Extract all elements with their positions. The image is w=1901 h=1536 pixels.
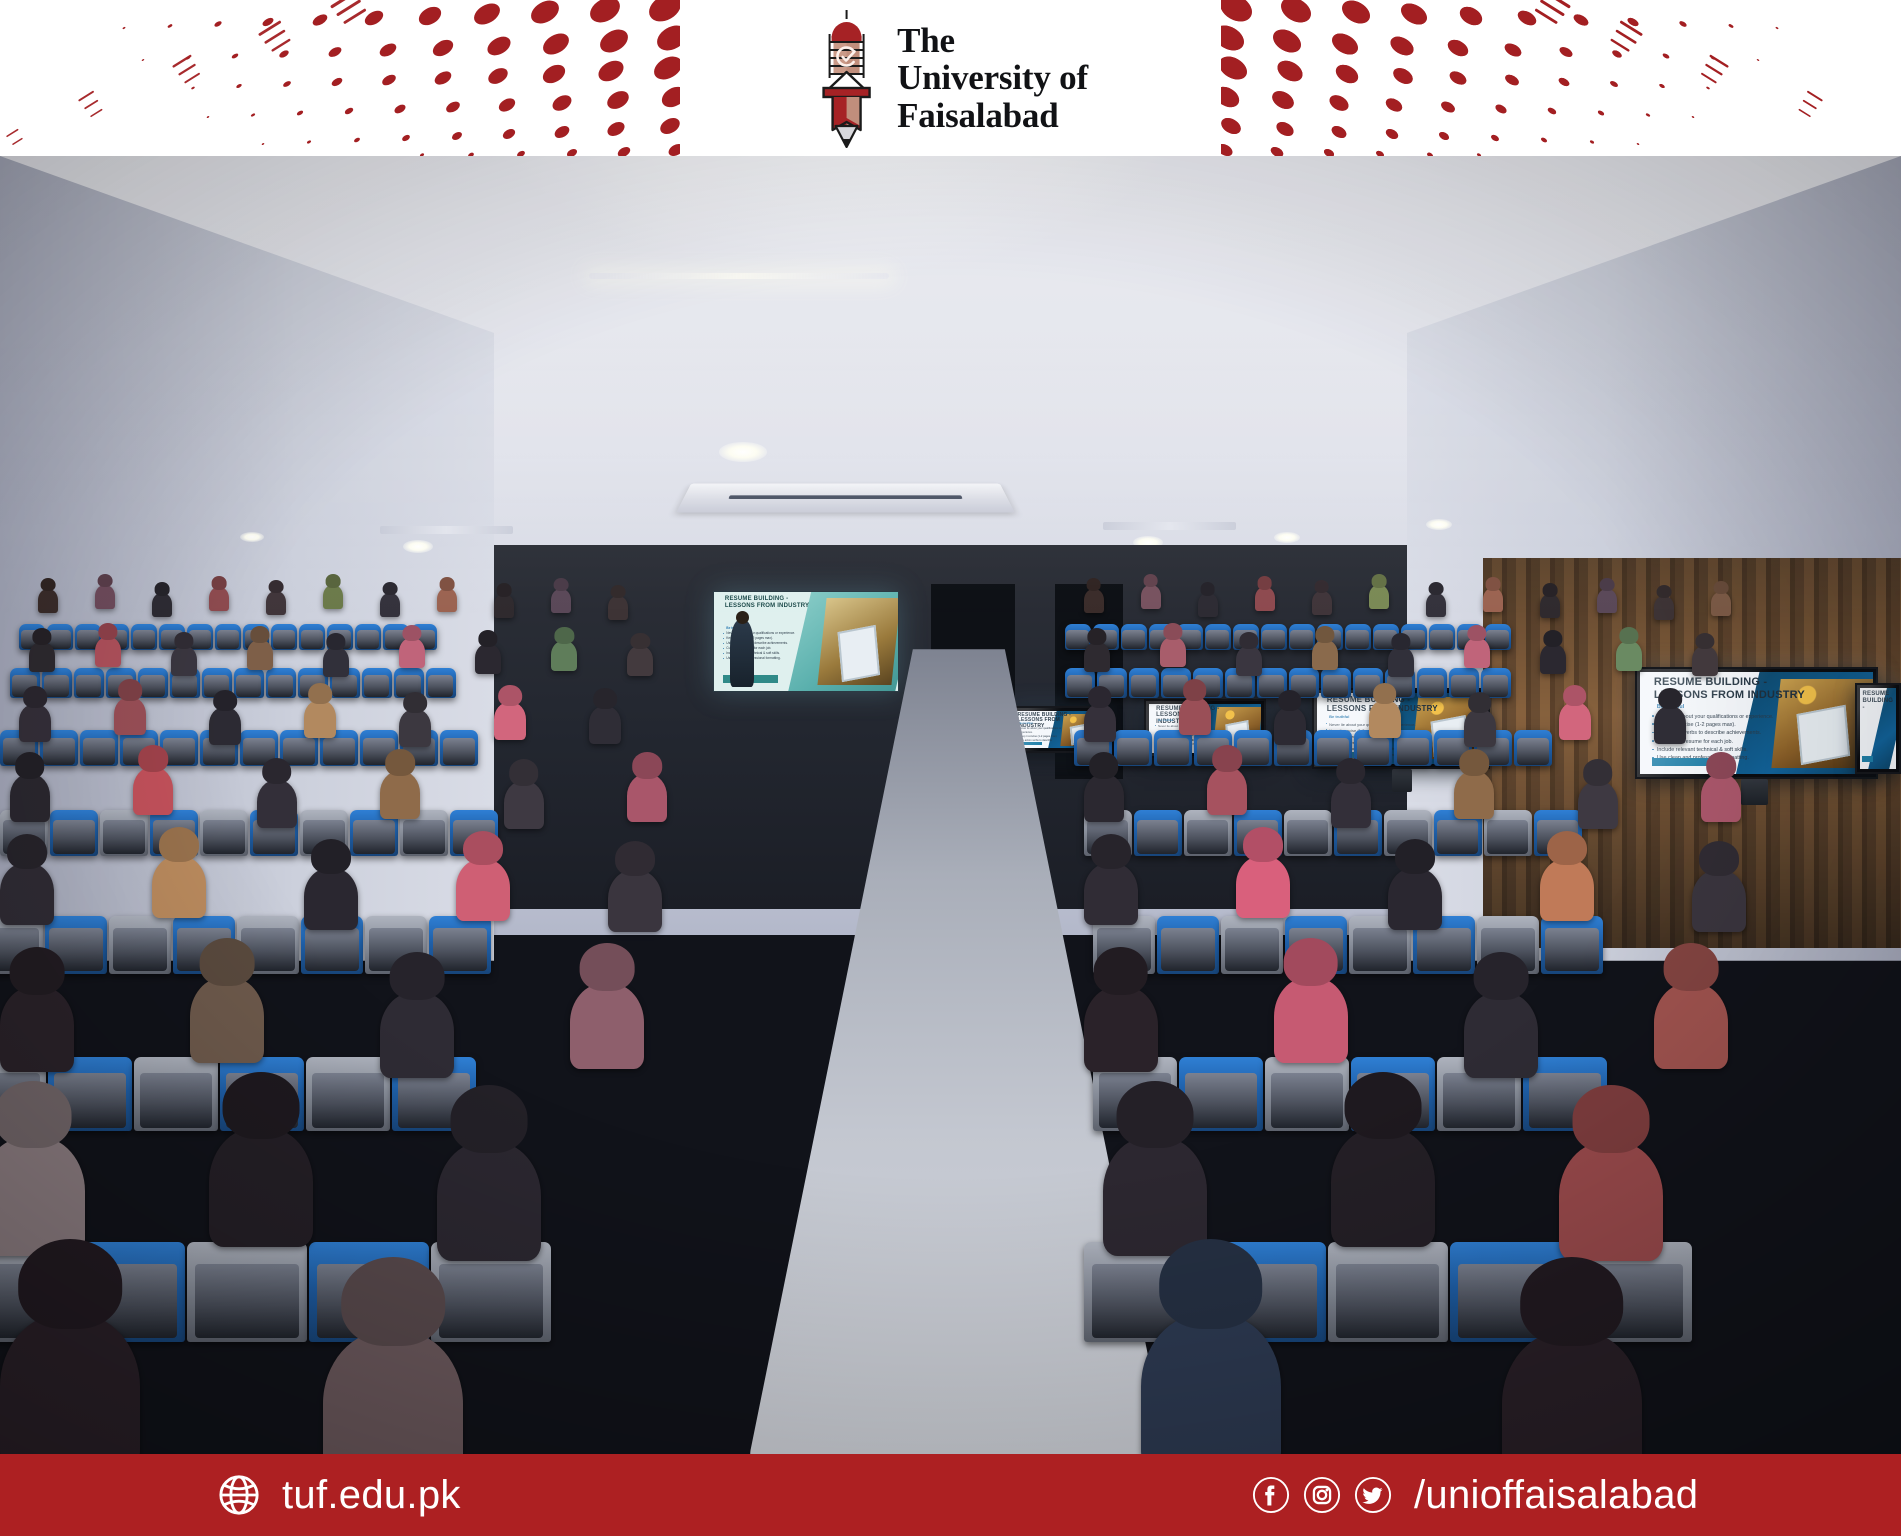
- attendee: [38, 589, 58, 613]
- ceiling-slot: [1103, 522, 1236, 530]
- attendee: [257, 780, 297, 828]
- ceiling-ac-vent: [677, 484, 1016, 513]
- attendee: [1597, 589, 1617, 613]
- attendee: [1084, 863, 1138, 925]
- attendee: [399, 638, 425, 668]
- attendee: [209, 707, 241, 745]
- social-handle[interactable]: /unioffaisalabad: [1414, 1473, 1698, 1518]
- logo-line-2: University of: [897, 59, 1088, 96]
- attendee: [1426, 593, 1446, 617]
- attendee: [1236, 646, 1262, 676]
- attendee: [1331, 780, 1371, 828]
- attendee: [1207, 767, 1247, 815]
- website-label[interactable]: tuf.edu.pk: [282, 1473, 461, 1518]
- attendee: [1198, 593, 1218, 617]
- attendee: [1141, 1313, 1281, 1454]
- attendee: [19, 704, 51, 742]
- attendee: [266, 591, 286, 615]
- logo-line-1: The: [897, 22, 1088, 59]
- attendee: [627, 774, 667, 822]
- header-bar: The University of Faisalabad: [0, 0, 1901, 156]
- attendee: [456, 859, 510, 921]
- attendee: [1274, 977, 1348, 1063]
- attendee: [1331, 1127, 1435, 1247]
- attendee: [437, 1141, 541, 1261]
- attendee: [1388, 647, 1414, 677]
- attendee: [0, 863, 54, 925]
- attendee: [1692, 870, 1746, 932]
- website-group[interactable]: tuf.edu.pk: [218, 1473, 461, 1518]
- attendee: [323, 1330, 463, 1454]
- ceiling-strip-light: [589, 273, 889, 279]
- logo-wordmark: The University of Faisalabad: [897, 22, 1088, 133]
- attendee: [1578, 781, 1618, 829]
- attendee: [10, 774, 50, 822]
- attendee: [1312, 591, 1332, 615]
- attendee: [1084, 642, 1110, 672]
- presenter-speaker: [730, 620, 754, 687]
- attendee: [1274, 707, 1306, 745]
- ceiling-light: [719, 442, 767, 462]
- lighthouse-pencil-logo-icon: [813, 8, 879, 148]
- attendee: [114, 697, 146, 735]
- attendee: [0, 986, 74, 1072]
- facebook-icon[interactable]: [1252, 1476, 1290, 1514]
- poster: The University of Faisalabad: [0, 0, 1901, 1536]
- attendee: [1369, 585, 1389, 609]
- attendee: [1236, 856, 1290, 918]
- attendee: [29, 642, 55, 672]
- attendee: [1616, 641, 1642, 671]
- university-logo[interactable]: The University of Faisalabad: [813, 8, 1088, 148]
- attendee: [627, 646, 653, 676]
- attendee: [152, 856, 206, 918]
- attendee: [1084, 774, 1124, 822]
- attendee: [589, 706, 621, 744]
- attendee: [304, 868, 358, 930]
- attendee: [209, 587, 229, 611]
- attendee: [304, 700, 336, 738]
- attendee: [1160, 637, 1186, 667]
- attendee: [95, 585, 115, 609]
- attendee: [437, 588, 457, 612]
- attendee: [209, 1127, 313, 1247]
- attendee: [380, 992, 454, 1078]
- attendee: [570, 983, 644, 1069]
- attendee: [247, 640, 273, 670]
- attendee: [1464, 992, 1538, 1078]
- attendee: [1540, 594, 1560, 618]
- attendee: [171, 646, 197, 676]
- social-group[interactable]: /unioffaisalabad: [1252, 1473, 1698, 1518]
- ceiling-slot: [380, 526, 513, 534]
- attendee: [1084, 589, 1104, 613]
- attendee: [1654, 596, 1674, 620]
- attendee: [323, 647, 349, 677]
- attendee: [551, 589, 571, 613]
- attendee: [1502, 1330, 1642, 1454]
- attendee: [608, 596, 628, 620]
- attendee: [1540, 644, 1566, 674]
- attendee: [190, 977, 264, 1063]
- attendee: [1701, 774, 1741, 822]
- globe-icon: [218, 1474, 260, 1516]
- attendee: [1559, 1141, 1663, 1261]
- attendee: [1464, 709, 1496, 747]
- attendee: [475, 644, 501, 674]
- attendee: [133, 767, 173, 815]
- attendee: [608, 870, 662, 932]
- attendee: [1103, 1136, 1207, 1256]
- attendee: [504, 781, 544, 829]
- twitter-icon[interactable]: [1354, 1476, 1392, 1514]
- attendee: [1540, 859, 1594, 921]
- instagram-icon[interactable]: [1303, 1476, 1341, 1514]
- attendee: [1454, 771, 1494, 819]
- attendee: [1141, 585, 1161, 609]
- event-photograph: RESUME BUILDING - LESSONS FROM INDUSTRY …: [0, 156, 1901, 1454]
- attendee: [399, 709, 431, 747]
- attendee: [152, 593, 172, 617]
- attendee: [494, 702, 526, 740]
- attendee: [95, 637, 121, 667]
- attendee: [1312, 640, 1338, 670]
- attendee: [1654, 983, 1728, 1069]
- attendee: [0, 1313, 140, 1454]
- halftone-pattern-right: [1221, 0, 1901, 156]
- logo-line-3: Faisalabad: [897, 97, 1088, 134]
- attendee: [1654, 706, 1686, 744]
- attendee: [1464, 638, 1490, 668]
- attendee: [1179, 697, 1211, 735]
- attendee: [1255, 587, 1275, 611]
- audience-seating: [0, 571, 1901, 1454]
- attendee: [1692, 646, 1718, 676]
- attendee: [1084, 704, 1116, 742]
- attendee: [380, 593, 400, 617]
- attendee: [1369, 700, 1401, 738]
- attendee: [380, 771, 420, 819]
- footer-bar: tuf.edu.pk /unioffaisalabad: [0, 1454, 1901, 1536]
- attendee: [1483, 588, 1503, 612]
- halftone-pattern-left: [0, 0, 680, 156]
- attendee: [1711, 592, 1731, 616]
- attendee: [1388, 868, 1442, 930]
- attendee: [494, 594, 514, 618]
- attendee: [1559, 702, 1591, 740]
- attendee: [323, 585, 343, 609]
- attendee: [551, 641, 577, 671]
- attendee: [1084, 986, 1158, 1072]
